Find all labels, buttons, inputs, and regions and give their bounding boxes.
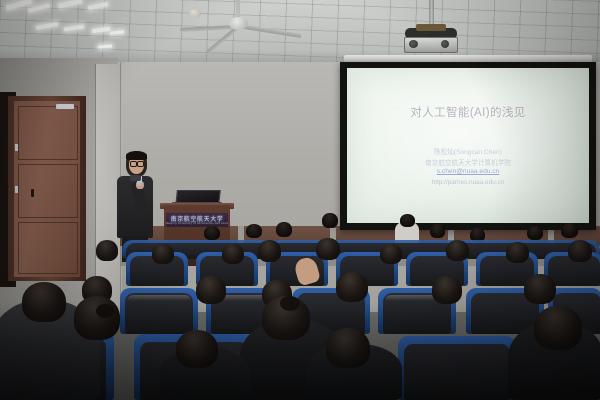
fan-hub [229, 17, 248, 30]
door-panel [18, 164, 78, 218]
door-hinge-icon [15, 144, 18, 151]
slide-website-url[interactable]: http://parnec.nuaa.edu.cn [347, 179, 589, 186]
slide-email-link[interactable]: s.chen@nuaa.edu.cn [347, 168, 589, 175]
audience-head [322, 213, 338, 228]
audience-head [568, 240, 592, 262]
podium-english-text: Nanjing University of Aeronautics and As… [166, 222, 228, 225]
audience-head [326, 328, 370, 368]
audience-head [506, 242, 529, 263]
audience-head [96, 240, 118, 261]
slide-presenter-name: 陈松灿(Songcan Chen) [347, 146, 589, 156]
audience-head [336, 272, 368, 302]
audience-head [400, 214, 415, 227]
audience-head [22, 282, 66, 322]
projector-mount-bracket [416, 24, 446, 31]
audience-head [430, 224, 445, 238]
audience-head [380, 244, 402, 264]
audience-head [74, 296, 120, 340]
speaker-glasses-icon [130, 161, 137, 167]
seat-foreground[interactable] [404, 344, 510, 400]
audience-head [196, 276, 226, 304]
door-panel [18, 222, 78, 274]
audience-head [534, 306, 582, 350]
audience-head [561, 223, 578, 238]
door-sign-plate [56, 104, 74, 109]
wall-corner-edge [95, 64, 96, 312]
audience-head [432, 276, 462, 304]
audience-head [524, 274, 556, 304]
lecture-hall-photo: 对人工智能(AI)的浅见 陈松灿(Songcan Chen) 南京航空航天大学计… [0, 0, 600, 400]
projector-lens-icon [409, 40, 418, 48]
audience-hair-bun [280, 296, 300, 311]
audience-head [246, 224, 262, 238]
slide-affiliation: 南京航空航天大学计算机学院 [347, 157, 589, 167]
audience-head [446, 240, 469, 261]
audience-hair-bun [96, 304, 114, 318]
seat-highlight [127, 295, 191, 301]
audience-head [204, 226, 220, 240]
speaker-collar [130, 175, 141, 181]
door-panel [18, 106, 78, 160]
audience-head [527, 226, 543, 240]
door-handle-icon[interactable] [31, 189, 34, 197]
speaker-hair [126, 151, 147, 160]
audience-head [316, 238, 340, 260]
audience-head [258, 240, 281, 262]
audience-head [222, 244, 244, 264]
audience-head [152, 244, 174, 264]
audience-head [176, 330, 218, 368]
projector-lens-icon [441, 40, 449, 48]
door-hinge-icon [15, 186, 18, 193]
slide-title: 对人工智能(AI)的浅见 [347, 104, 589, 120]
speaker-glasses-icon [137, 161, 144, 167]
smoke-detector-icon [189, 9, 201, 18]
audience-head [276, 222, 292, 237]
